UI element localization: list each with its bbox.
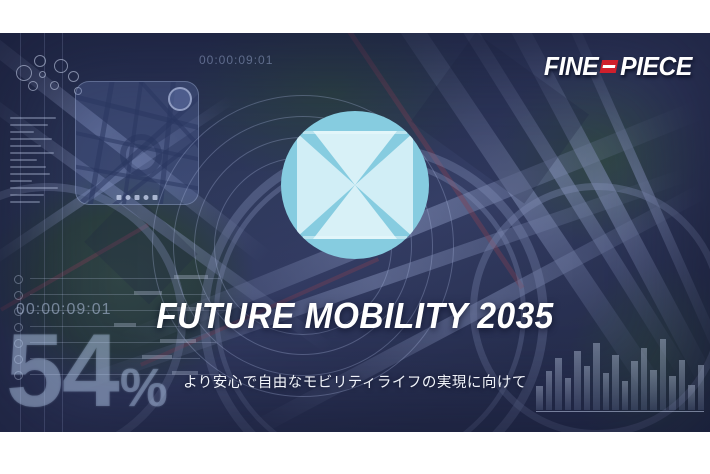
bar-chart-baseline — [536, 411, 704, 412]
brand-name-left: FINE — [544, 51, 598, 82]
timecode-top: 00:00:09:01 — [199, 53, 273, 67]
brand-logo[interactable]: FINE PIECE — [544, 51, 692, 82]
logo-triangle-bottom — [313, 185, 397, 239]
logo-circle-shape — [281, 111, 429, 259]
logo-triangle-top — [313, 131, 397, 185]
brand-mark-icon — [600, 60, 619, 73]
bar-chart — [536, 326, 704, 410]
map-overlay-panel[interactable] — [75, 81, 199, 205]
hud-text-list — [10, 117, 62, 208]
page-title: FUTURE MOBILITY 2035 — [25, 295, 685, 337]
map-roundabout — [120, 134, 162, 176]
center-logo — [281, 111, 429, 259]
map-controls[interactable] — [117, 195, 158, 200]
screenshot-stage: 00:00:09:01 00:00:09:01 54 % FUTURE MOBI… — [0, 0, 710, 474]
map-pin-icon — [168, 87, 192, 111]
brand-name-right: PIECE — [620, 51, 692, 82]
video-frame: 00:00:09:01 00:00:09:01 54 % FUTURE MOBI… — [0, 33, 710, 432]
page-subtitle: より安心で自由なモビリティライフの実現に向けて — [0, 371, 710, 392]
